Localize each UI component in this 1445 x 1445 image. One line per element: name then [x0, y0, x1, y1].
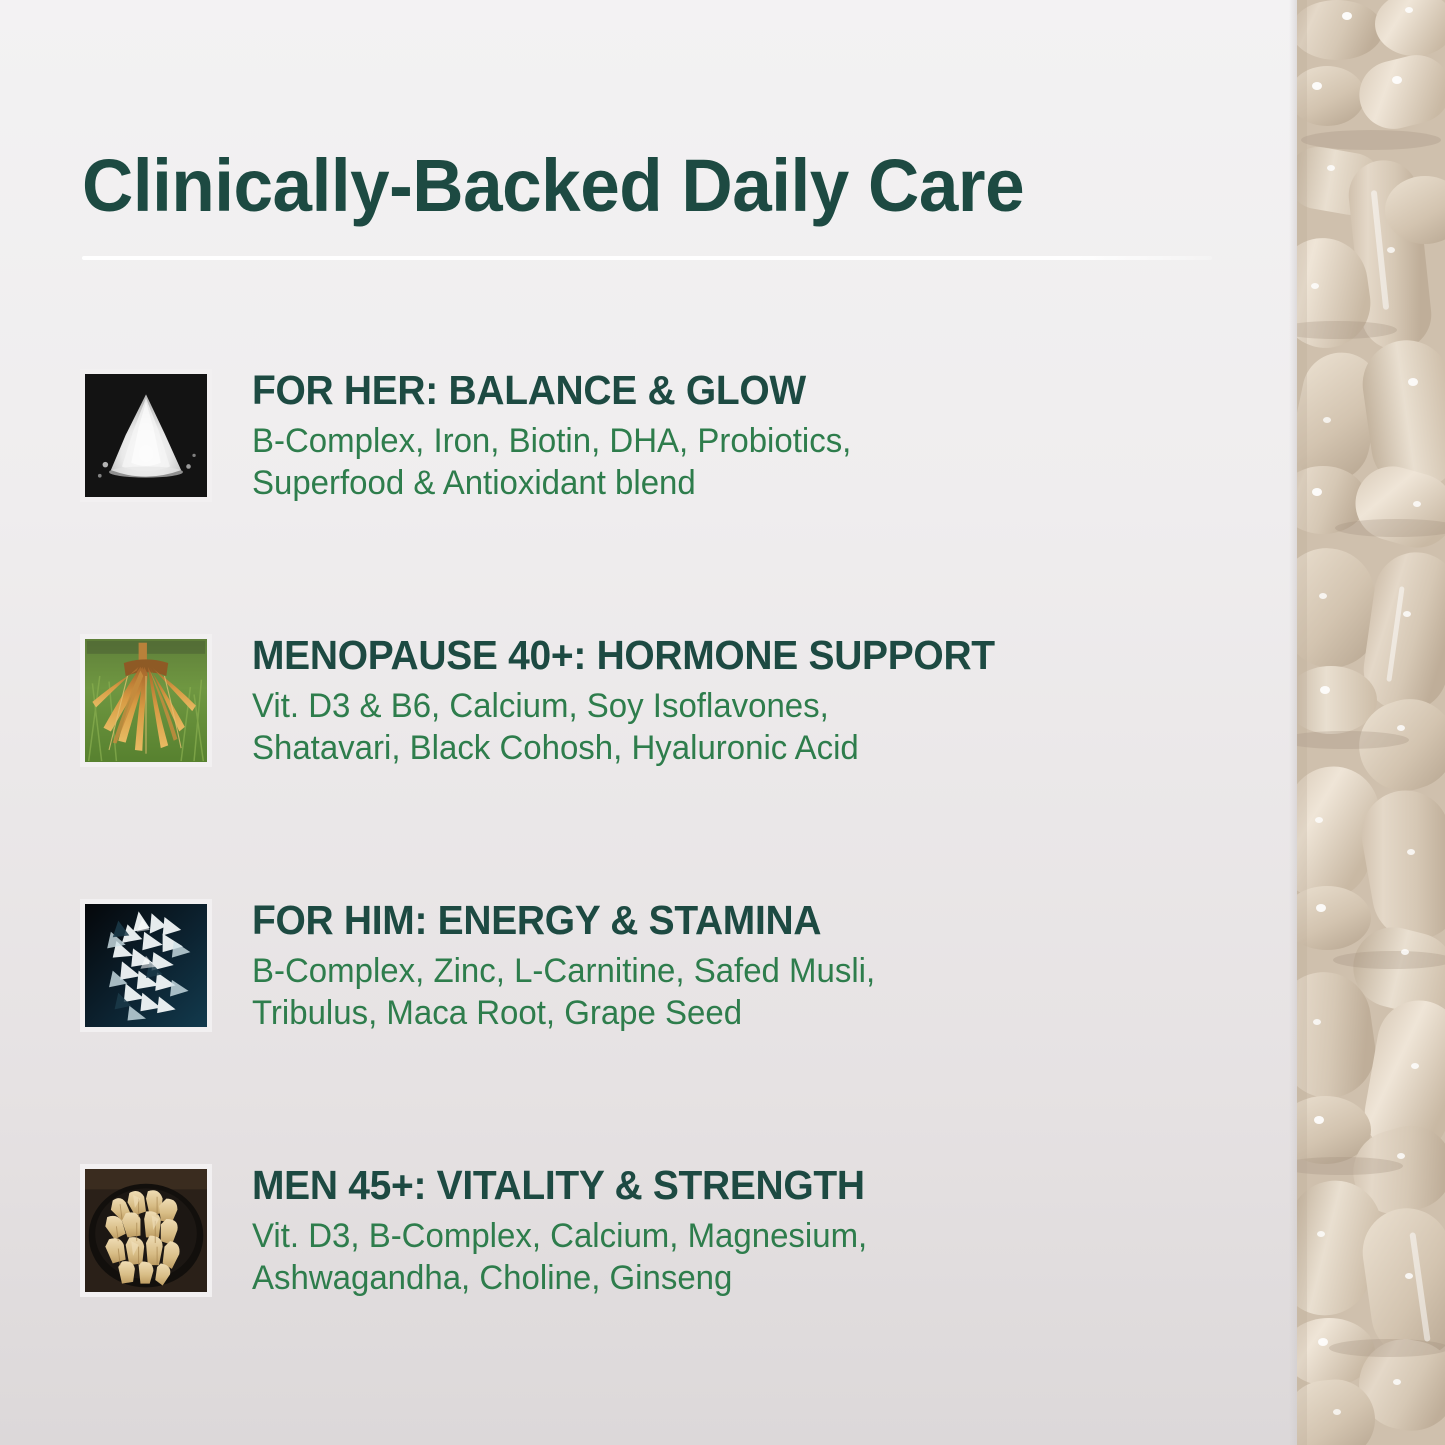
page-title: Clinically-Backed Daily Care — [82, 143, 1176, 229]
section-description: B-Complex, Zinc, L-Carnitine, Safed Musl… — [252, 950, 989, 1034]
content-column: Clinically-Backed Daily Care — [0, 0, 1297, 1445]
benefit-section: FOR HIM: ENERGY & STAMINA B-Complex, Zin… — [80, 896, 1260, 1046]
section-description: Vit. D3 & B6, Calcium, Soy Isoflavones, … — [252, 685, 970, 769]
benefit-section: MEN 45+: VITALITY & STRENGTH Vit. D3, B-… — [80, 1161, 1260, 1311]
section-heading: FOR HER: BALANCE & GLOW — [252, 366, 1212, 414]
product-infographic: Clinically-Backed Daily Care — [0, 0, 1445, 1445]
benefit-section: FOR HER: BALANCE & GLOW B-Complex, Iron,… — [80, 366, 1260, 516]
dried-ginseng-root-photo — [80, 1164, 212, 1297]
section-text: MENOPAUSE 40+: HORMONE SUPPORT Vit. D3 &… — [252, 631, 1262, 769]
section-heading: FOR HIM: ENERGY & STAMINA — [252, 896, 1212, 944]
capsules-photo — [1297, 0, 1445, 1445]
benefit-section: MENOPAUSE 40+: HORMONE SUPPORT Vit. D3 &… — [80, 631, 1260, 781]
white-powder-photo — [80, 369, 212, 502]
section-heading: MEN 45+: VITALITY & STRENGTH — [252, 1161, 1212, 1209]
section-heading: MENOPAUSE 40+: HORMONE SUPPORT — [252, 631, 1212, 679]
section-text: FOR HIM: ENERGY & STAMINA B-Complex, Zin… — [252, 896, 1262, 1034]
section-text: MEN 45+: VITALITY & STRENGTH Vit. D3, B-… — [252, 1161, 1262, 1299]
strip-edge-shadow — [1289, 0, 1297, 1445]
section-description: Vit. D3, B-Complex, Calcium, Magnesium, … — [252, 1215, 970, 1299]
title-divider — [82, 256, 1212, 260]
zinc-crystal-photo — [80, 899, 212, 1032]
section-description: B-Complex, Iron, Biotin, DHA, Probiotics… — [252, 420, 989, 504]
section-text: FOR HER: BALANCE & GLOW B-Complex, Iron,… — [252, 366, 1262, 504]
shatavari-root-photo — [80, 634, 212, 767]
